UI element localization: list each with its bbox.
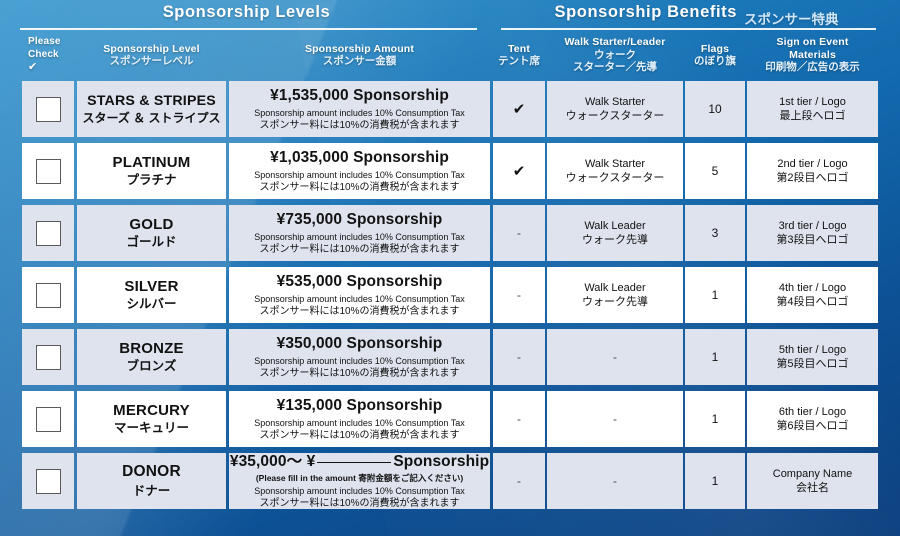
title-sponsorship-benefits: Sponsorship Benefits スポンサー特典 <box>493 0 900 30</box>
row-check-cell[interactable] <box>22 267 74 323</box>
column-header-check: Please Check ✔ <box>22 32 74 78</box>
sponsorship-amount-cell: ¥350,000 SponsorshipSponsorship amount i… <box>229 329 490 385</box>
title-benefits-jp: スポンサー特典 <box>744 8 839 28</box>
walk-header-jp1: ウォーク <box>594 49 636 61</box>
tax-note-en: Sponsorship amount includes 10% Consumpt… <box>254 418 464 429</box>
table-row: MERCURYマーキュリー¥135,000 SponsorshipSponsor… <box>0 388 900 450</box>
walk-role-en: Walk Leader <box>584 220 645 233</box>
sign-header-jp: 印刷物／広告の表示 <box>765 61 860 73</box>
row-check-cell[interactable] <box>22 81 74 137</box>
flags-count: 10 <box>708 102 721 116</box>
tax-note-en: Sponsorship amount includes 10% Consumpt… <box>254 232 464 243</box>
tent-none: - <box>517 474 521 488</box>
flags-benefit-cell: 3 <box>685 205 745 261</box>
sponsorship-table-page: Sponsorship Levels Sponsorship Benefits … <box>0 0 900 536</box>
title-sponsorship-levels: Sponsorship Levels <box>0 0 493 30</box>
sponsorship-amount-cell: ¥135,000 SponsorshipSponsorship amount i… <box>229 391 490 447</box>
column-header-flags: Flags のぼり旗 <box>685 32 745 78</box>
sign-tier-en: Company Name <box>773 468 852 481</box>
sign-tier-jp: 第6段目へロゴ <box>776 420 848 433</box>
tent-benefit-cell: ✔ <box>493 143 545 199</box>
row-check-cell[interactable] <box>22 453 74 509</box>
level-name-en: STARS & STRIPES <box>87 93 216 110</box>
title-rule-left <box>20 28 477 30</box>
fill-in-instruction: (Please fill in the amount 寄附金額をご記入ください) <box>256 473 463 483</box>
table-row: BRONZEブロンズ¥350,000 SponsorshipSponsorshi… <box>0 326 900 388</box>
walk-benefit-cell: Walk Starterウォークスターター <box>547 81 683 137</box>
tent-none: - <box>517 226 521 240</box>
sponsorship-level-cell: BRONZEブロンズ <box>77 329 226 385</box>
amount-suffix: Sponsorship <box>393 453 489 470</box>
tax-note-en: Sponsorship amount includes 10% Consumpt… <box>254 170 464 181</box>
sign-benefit-cell: 3rd tier / Logo第3段目へロゴ <box>747 205 878 261</box>
level-name-en: DONOR <box>122 463 181 481</box>
column-header-sign: Sign on Event Materials 印刷物／広告の表示 <box>747 32 878 78</box>
sign-tier-jp: 第3段目へロゴ <box>776 234 848 247</box>
level-name-en: PLATINUM <box>113 154 191 172</box>
flags-benefit-cell: 1 <box>685 391 745 447</box>
walk-benefit-cell: - <box>547 391 683 447</box>
amount-value: ¥1,535,000 Sponsorship <box>270 87 449 105</box>
sign-benefit-cell: 6th tier / Logo第6段目へロゴ <box>747 391 878 447</box>
walk-role-jp: ウォーク先導 <box>582 296 648 309</box>
flags-header-jp: のぼり旗 <box>694 55 736 67</box>
level-name-jp: マーキュリー <box>114 421 189 436</box>
column-header-amount: Sponsorship Amount スポンサー金額 <box>229 32 490 78</box>
sign-tier-en: 4th tier / Logo <box>779 282 846 295</box>
walk-role-jp: ウォークスターター <box>566 110 665 123</box>
flags-benefit-cell: 1 <box>685 329 745 385</box>
flags-header-en: Flags <box>701 43 729 55</box>
column-header-walk: Walk Starter/Leader ウォーク スターター／先導 <box>547 32 683 78</box>
level-name-jp: ブロンズ <box>127 359 177 374</box>
sign-header-en2: Materials <box>789 49 836 61</box>
walk-role-en: - <box>613 350 617 364</box>
sign-tier-en: 2nd tier / Logo <box>777 158 847 171</box>
sponsorship-table-body: STARS & STRIPESスターズ ＆ ストライプス¥1,535,000 S… <box>0 78 900 512</box>
level-header-en: Sponsorship Level <box>103 43 200 55</box>
tax-note-en: Sponsorship amount includes 10% Consumpt… <box>254 486 464 497</box>
sign-tier-en: 1st tier / Logo <box>779 96 846 109</box>
tent-benefit-cell: - <box>493 267 545 323</box>
tax-note-en: Sponsorship amount includes 10% Consumpt… <box>254 356 464 367</box>
sign-tier-en: 6th tier / Logo <box>779 406 846 419</box>
tent-none: - <box>517 288 521 302</box>
walk-benefit-cell: Walk Starterウォークスターター <box>547 143 683 199</box>
tent-none: - <box>517 412 521 426</box>
amount-blank-field[interactable] <box>317 462 391 463</box>
sponsorship-amount-cell: ¥1,535,000 SponsorshipSponsorship amount… <box>229 81 490 137</box>
amount-value: ¥350,000 Sponsorship <box>277 335 443 353</box>
tax-note-jp: スポンサー料には10%の消費税が含まれます <box>259 182 459 194</box>
flags-benefit-cell: 5 <box>685 143 745 199</box>
check-header-line2: Check <box>28 49 59 62</box>
amount-value: ¥135,000 Sponsorship <box>277 397 443 415</box>
checkbox-input[interactable] <box>36 221 61 246</box>
table-row: STARS & STRIPESスターズ ＆ ストライプス¥1,535,000 S… <box>0 78 900 140</box>
title-band: Sponsorship Levels Sponsorship Benefits … <box>0 0 900 30</box>
walk-role-en: Walk Starter <box>585 158 645 171</box>
check-mark-icon: ✔ <box>28 61 37 73</box>
sponsorship-level-cell: SILVERシルバー <box>77 267 226 323</box>
column-header-level: Sponsorship Level スポンサーレベル <box>77 32 226 78</box>
walk-role-en: - <box>613 474 617 488</box>
flags-benefit-cell: 1 <box>685 453 745 509</box>
row-check-cell[interactable] <box>22 143 74 199</box>
tax-note-en: Sponsorship amount includes 10% Consumpt… <box>254 294 464 305</box>
tax-note-jp: スポンサー料には10%の消費税が含まれます <box>259 120 459 132</box>
title-benefits-en: Sponsorship Benefits <box>554 3 737 22</box>
level-name-en: BRONZE <box>119 340 184 358</box>
tent-benefit-cell: ✔ <box>493 81 545 137</box>
amount-header-jp: スポンサー金額 <box>323 55 397 67</box>
flags-count: 5 <box>712 164 719 178</box>
walk-benefit-cell: Walk Leaderウォーク先導 <box>547 267 683 323</box>
sign-tier-en: 5th tier / Logo <box>779 344 846 357</box>
row-check-cell[interactable] <box>22 329 74 385</box>
walk-role-en: Walk Leader <box>584 282 645 295</box>
tent-benefit-cell: - <box>493 453 545 509</box>
checkbox-input[interactable] <box>36 159 61 184</box>
title-rule-right <box>501 28 876 30</box>
walk-role-jp: ウォークスターター <box>566 172 665 185</box>
tent-check-icon: ✔ <box>513 164 526 179</box>
row-check-cell[interactable] <box>22 205 74 261</box>
sponsorship-level-cell: DONORドナー <box>77 453 226 509</box>
tent-benefit-cell: - <box>493 391 545 447</box>
walk-header-jp2: スターター／先導 <box>573 61 657 73</box>
check-header-line1: Please <box>28 36 61 49</box>
flags-count: 3 <box>712 226 719 240</box>
sponsorship-amount-cell: ¥1,035,000 SponsorshipSponsorship amount… <box>229 143 490 199</box>
walk-benefit-cell: - <box>547 329 683 385</box>
amount-prefix: ¥35,000〜 ¥ <box>230 453 315 470</box>
flags-count: 1 <box>712 350 719 364</box>
walk-benefit-cell: Walk Leaderウォーク先導 <box>547 205 683 261</box>
walk-header-en: Walk Starter/Leader <box>564 36 665 48</box>
level-name-jp: ドナー <box>133 484 171 499</box>
walk-benefit-cell: - <box>547 453 683 509</box>
tent-header-jp: テント席 <box>498 55 540 67</box>
level-name-jp: ゴールド <box>126 235 176 250</box>
checkbox-input[interactable] <box>36 345 61 370</box>
checkbox-input[interactable] <box>36 407 61 432</box>
sponsorship-level-cell: GOLDゴールド <box>77 205 226 261</box>
sign-benefit-cell: 5th tier / Logo第5段目へロゴ <box>747 329 878 385</box>
tax-note-en: Sponsorship amount includes 10% Consumpt… <box>254 108 464 119</box>
level-name-jp: シルバー <box>126 297 176 312</box>
sponsorship-level-cell: MERCURYマーキュリー <box>77 391 226 447</box>
sponsorship-amount-cell: ¥35,000〜 ¥Sponsorship(Please fill in the… <box>229 453 490 509</box>
level-name-jp: プラチナ <box>126 173 176 188</box>
table-row: PLATINUMプラチナ¥1,035,000 SponsorshipSponso… <box>0 140 900 202</box>
sign-benefit-cell: Company Name会社名 <box>747 453 878 509</box>
sign-tier-jp: 最上段へロゴ <box>780 110 846 123</box>
sign-tier-jp: 会社名 <box>796 482 829 495</box>
column-header-tent: Tent テント席 <box>493 32 545 78</box>
tax-note-jp: スポンサー料には10%の消費税が含まれます <box>259 244 459 256</box>
tax-note-jp: スポンサー料には10%の消費税が含まれます <box>259 368 459 380</box>
tax-note-jp: スポンサー料には10%の消費税が含まれます <box>259 498 459 509</box>
sign-benefit-cell: 4th tier / Logo第4段目へロゴ <box>747 267 878 323</box>
amount-value: ¥1,035,000 Sponsorship <box>270 149 449 167</box>
checkbox-input[interactable] <box>36 97 61 122</box>
checkbox-input[interactable] <box>36 283 61 308</box>
flags-count: 1 <box>712 412 719 426</box>
walk-role-en: - <box>613 412 617 426</box>
level-name-jp: スターズ ＆ ストライプス <box>82 111 220 125</box>
tent-benefit-cell: - <box>493 205 545 261</box>
level-name-en: SILVER <box>124 278 178 296</box>
sign-benefit-cell: 2nd tier / Logo第2段目へロゴ <box>747 143 878 199</box>
tent-benefit-cell: - <box>493 329 545 385</box>
amount-header-en: Sponsorship Amount <box>305 43 414 55</box>
walk-role-en: Walk Starter <box>585 96 645 109</box>
tent-none: - <box>517 350 521 364</box>
amount-value: ¥535,000 Sponsorship <box>277 273 443 291</box>
flags-benefit-cell: 1 <box>685 267 745 323</box>
flags-benefit-cell: 10 <box>685 81 745 137</box>
level-header-jp: スポンサーレベル <box>110 55 194 67</box>
level-name-en: GOLD <box>129 216 173 234</box>
sign-tier-jp: 第4段目へロゴ <box>776 296 848 309</box>
sponsorship-amount-cell: ¥735,000 SponsorshipSponsorship amount i… <box>229 205 490 261</box>
tax-note-jp: スポンサー料には10%の消費税が含まれます <box>259 306 459 318</box>
title-levels-en: Sponsorship Levels <box>163 3 331 22</box>
flags-count: 1 <box>712 288 719 302</box>
level-name-en: MERCURY <box>113 402 190 420</box>
amount-value: ¥735,000 Sponsorship <box>277 211 443 229</box>
tent-header-en: Tent <box>508 43 530 55</box>
sign-benefit-cell: 1st tier / Logo最上段へロゴ <box>747 81 878 137</box>
sponsorship-amount-cell: ¥535,000 SponsorshipSponsorship amount i… <box>229 267 490 323</box>
sign-tier-en: 3rd tier / Logo <box>779 220 847 233</box>
sign-header-en1: Sign on Event <box>777 36 849 48</box>
row-check-cell[interactable] <box>22 391 74 447</box>
checkbox-input[interactable] <box>36 469 61 494</box>
table-row: DONORドナー¥35,000〜 ¥Sponsorship(Please fil… <box>0 450 900 512</box>
amount-value: ¥35,000〜 ¥Sponsorship <box>230 453 489 471</box>
sponsorship-level-cell: STARS & STRIPESスターズ ＆ ストライプス <box>77 81 226 137</box>
column-header-row: Please Check ✔ Sponsorship Level スポンサーレベ… <box>0 32 900 78</box>
sign-tier-jp: 第5段目へロゴ <box>776 358 848 371</box>
flags-count: 1 <box>712 474 719 488</box>
walk-role-jp: ウォーク先導 <box>582 234 648 247</box>
table-row: SILVERシルバー¥535,000 SponsorshipSponsorshi… <box>0 264 900 326</box>
sponsorship-level-cell: PLATINUMプラチナ <box>77 143 226 199</box>
sign-tier-jp: 第2段目へロゴ <box>776 172 848 185</box>
tent-check-icon: ✔ <box>513 102 526 117</box>
tax-note-jp: スポンサー料には10%の消費税が含まれます <box>259 430 459 442</box>
table-row: GOLDゴールド¥735,000 SponsorshipSponsorship … <box>0 202 900 264</box>
